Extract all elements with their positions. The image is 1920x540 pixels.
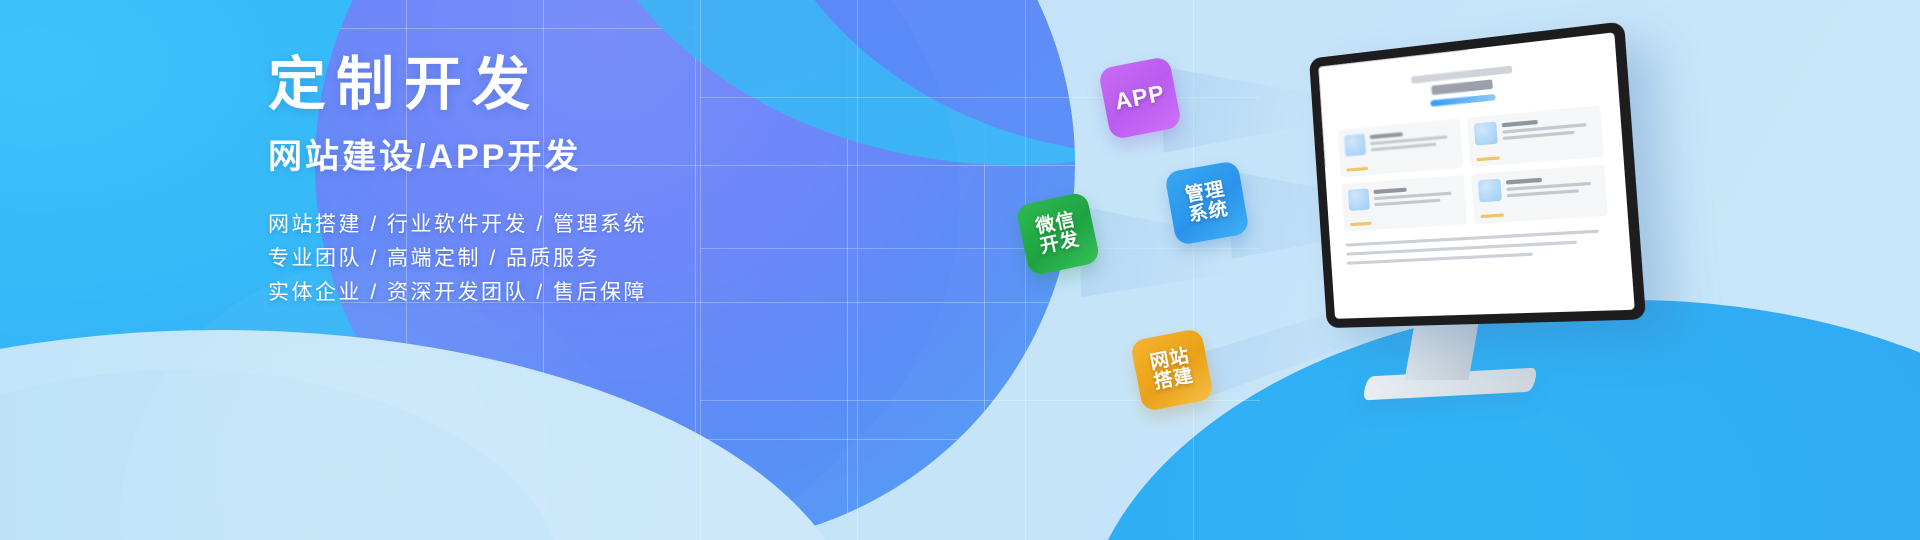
service-tile-management-system[interactable]: 管理 系统	[1164, 160, 1250, 246]
list-item: 网站搭建 / 行业软件开发 / 管理系统	[268, 208, 788, 242]
screen-blur-overlay	[1318, 32, 1635, 318]
tile-mgmt-label-line2: 系统	[1187, 200, 1230, 226]
service-tile-website-build[interactable]: 网站 搭建	[1130, 328, 1214, 412]
feature-list: 网站搭建 / 行业软件开发 / 管理系统 专业团队 / 高端定制 / 品质服务 …	[268, 208, 788, 310]
monitor-bezel	[1309, 21, 1646, 328]
service-tile-wechat-development[interactable]: 微信 开发	[1015, 191, 1100, 276]
list-item: 专业团队 / 高端定制 / 品质服务	[268, 242, 788, 276]
service-tile-app[interactable]: APP	[1098, 56, 1182, 140]
page-title: 定制开发	[268, 56, 788, 114]
tile-app-label-line1: APP	[1113, 81, 1167, 114]
list-item: 实体企业 / 资深开发团队 / 售后保障	[268, 276, 788, 310]
promo-banner: 定制开发 网站建设/APP开发 网站搭建 / 行业软件开发 / 管理系统 专业团…	[0, 0, 1920, 540]
banner-copy: 定制开发 网站建设/APP开发 网站搭建 / 行业软件开发 / 管理系统 专业团…	[268, 56, 788, 310]
monitor-screen	[1318, 32, 1635, 318]
monitor-illustration	[1318, 58, 1618, 328]
page-subtitle: 网站建设/APP开发	[268, 140, 788, 174]
